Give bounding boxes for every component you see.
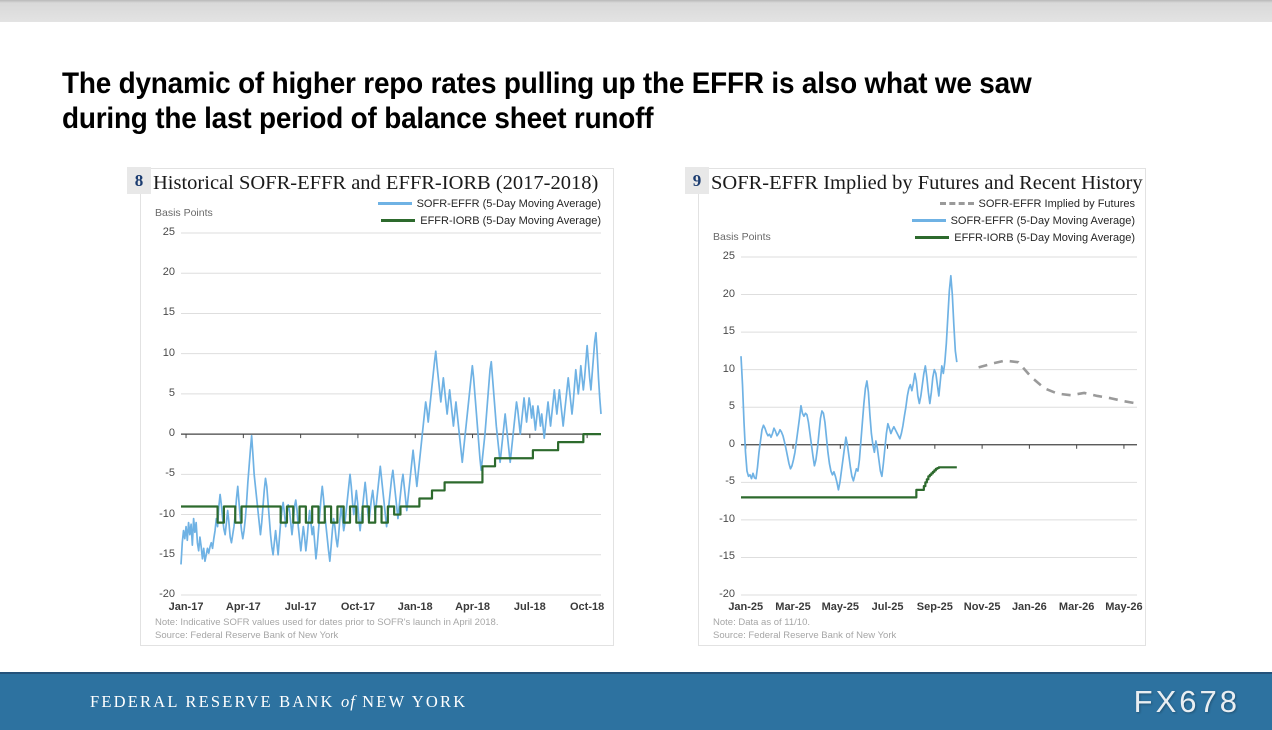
y-axis-tick-label: 5 [709,400,735,412]
x-axis-tick-label: Jul-18 [504,601,556,613]
y-axis-tick-label: 15 [149,306,175,318]
x-axis-tick-label: Jul-25 [862,601,914,613]
slide: The dynamic of higher repo rates pulling… [0,0,1272,730]
x-axis-tick-label: Oct-18 [561,601,613,613]
x-axis-tick-label: Apr-17 [217,601,269,613]
y-axis-tick-label: 20 [149,266,175,278]
chart-panel-historical: 8 Historical SOFR-EFFR and EFFR-IORB (20… [140,168,614,646]
y-axis-tick-label: 15 [709,325,735,337]
y-axis-tick-label: -5 [709,475,735,487]
watermark-fx678: FX678 [1134,684,1240,720]
y-axis-tick-label: 5 [149,387,175,399]
footer-brand-post: NEW YORK [362,692,467,711]
chart-panel-futures: 9 SOFR-EFFR Implied by Futures and Recen… [698,168,1146,646]
x-axis-tick-label: Jan-26 [1003,601,1055,613]
chart-source-left: Source: Federal Reserve Bank of New York [155,630,338,641]
footer-brand: FEDERAL RESERVE BANK of NEW YORK [90,692,467,712]
x-axis-tick-label: Sep-25 [909,601,961,613]
chart-plot-left: 2520151050-5-10-15-20Jan-17Apr-17Jul-17O… [141,169,615,639]
chart-svg [699,169,1147,639]
chart-plot-right: 2520151050-5-10-15-20Jan-25Mar-25May-25J… [699,169,1147,639]
y-axis-tick-label: 10 [149,347,175,359]
series-line [979,361,1137,404]
y-axis-tick-label: -10 [149,508,175,520]
x-axis-tick-label: Nov-25 [956,601,1008,613]
page-title: The dynamic of higher repo rates pulling… [62,66,1085,136]
chart-source-right: Source: Federal Reserve Bank of New York [713,630,896,641]
x-axis-tick-label: Oct-17 [332,601,384,613]
y-axis-tick-label: -10 [709,513,735,525]
y-axis-tick-label: -20 [149,588,175,600]
x-axis-tick-label: Apr-18 [447,601,499,613]
x-axis-tick-label: Jan-25 [720,601,772,613]
y-axis-tick-label: -15 [709,550,735,562]
series-line [741,276,957,490]
x-axis-tick-label: May-25 [814,601,866,613]
footer-band: FEDERAL RESERVE BANK of NEW YORK FX678 [0,672,1272,730]
y-axis-tick-label: 25 [709,250,735,262]
y-axis-tick-label: 0 [149,427,175,439]
top-strip [0,0,1272,22]
footer-brand-of: of [341,692,356,711]
chart-svg [141,169,615,639]
y-axis-tick-label: -20 [709,588,735,600]
x-axis-tick-label: Mar-25 [767,601,819,613]
y-axis-tick-label: -5 [149,467,175,479]
y-axis-tick-label: -15 [149,548,175,560]
series-line [181,333,601,565]
y-axis-tick-label: 25 [149,226,175,238]
x-axis-tick-label: May-26 [1098,601,1150,613]
footer-brand-pre: FEDERAL RESERVE BANK [90,692,335,711]
y-axis-tick-label: 20 [709,288,735,300]
x-axis-tick-label: Jan-17 [160,601,212,613]
x-axis-tick-label: Jul-17 [275,601,327,613]
x-axis-tick-label: Mar-26 [1051,601,1103,613]
chart-note-left: Note: Indicative SOFR values used for da… [155,617,498,628]
chart-note-right: Note: Data as of 11/10. [713,617,810,628]
x-axis-tick-label: Jan-18 [389,601,441,613]
y-axis-tick-label: 10 [709,363,735,375]
y-axis-tick-label: 0 [709,438,735,450]
